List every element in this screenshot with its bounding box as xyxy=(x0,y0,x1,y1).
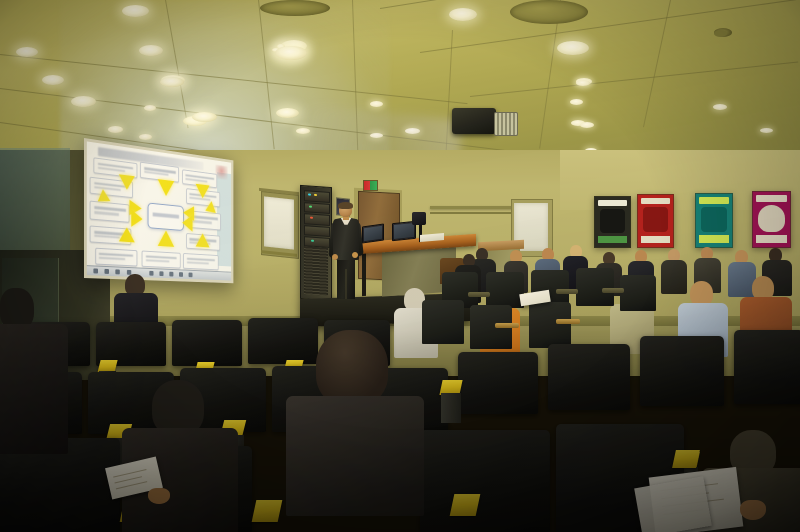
slide-node xyxy=(183,253,218,270)
slide-node xyxy=(142,250,181,268)
armrest xyxy=(602,288,624,293)
ceiling-downlight xyxy=(122,5,149,17)
ceiling-downlight xyxy=(760,128,773,133)
laptop[interactable] xyxy=(362,223,384,243)
ceiling-downlight xyxy=(275,46,307,60)
chair[interactable] xyxy=(486,272,524,308)
ceiling-downlight xyxy=(276,108,299,118)
ceiling-downlight xyxy=(713,104,727,110)
monitor[interactable] xyxy=(412,212,426,225)
presentation-room-photo xyxy=(0,0,800,532)
hand xyxy=(740,500,766,520)
ceiling-downlight xyxy=(16,47,38,57)
ceiling-downlight xyxy=(71,96,96,107)
ceiling-downlight xyxy=(42,75,64,85)
poster-gramophone xyxy=(637,194,674,248)
armrest xyxy=(468,292,490,297)
ceiling-downlight xyxy=(370,101,383,107)
ceiling-downlight xyxy=(557,41,589,55)
wall-rail xyxy=(430,206,520,209)
armrest-post xyxy=(441,393,461,423)
armrest xyxy=(556,289,578,294)
slide-arrow xyxy=(158,230,174,247)
projector-vent-grille xyxy=(494,112,518,136)
slide-arrow xyxy=(119,175,135,191)
ceiling-downlight xyxy=(139,45,163,56)
exit-sign-icon xyxy=(363,180,378,191)
ceiling-vent xyxy=(260,0,330,16)
ceiling-downlight xyxy=(144,105,156,111)
chair[interactable] xyxy=(172,320,242,366)
slide-arrow xyxy=(196,184,210,199)
chair[interactable] xyxy=(458,352,538,414)
ceiling-downlight xyxy=(570,99,583,105)
presenter xyxy=(330,203,362,301)
slide-logo xyxy=(216,165,228,180)
projected-slide xyxy=(87,141,231,280)
slide-node xyxy=(95,248,137,267)
ceiling-vent xyxy=(510,0,588,24)
chair[interactable] xyxy=(576,268,614,306)
wall-rail xyxy=(430,212,520,214)
armrest xyxy=(556,319,580,324)
chair[interactable] xyxy=(420,430,550,532)
slide-arrow xyxy=(196,233,210,248)
lectern-leg xyxy=(362,250,366,296)
poster-computer xyxy=(695,193,733,248)
ceiling-downlight xyxy=(108,126,123,133)
ceiling-downlight xyxy=(580,122,594,128)
poster-telephone xyxy=(594,196,631,248)
chair[interactable] xyxy=(734,330,800,404)
whiteboard[interactable] xyxy=(264,196,294,249)
slide-arrow xyxy=(131,210,142,228)
seat-number-plate xyxy=(672,450,700,468)
ceiling-downlight xyxy=(192,112,217,122)
slide-arrow xyxy=(119,227,135,243)
seat-number-plate xyxy=(450,494,481,516)
hand xyxy=(148,488,170,504)
chair[interactable] xyxy=(422,300,464,344)
seat-number-plate xyxy=(252,500,283,522)
ceiling-downlight xyxy=(139,134,152,140)
projection-screen[interactable] xyxy=(84,138,233,283)
smoke-detector-icon xyxy=(714,30,727,37)
projection-screen-surface xyxy=(87,141,231,280)
chair[interactable] xyxy=(248,318,318,364)
chair[interactable] xyxy=(529,302,571,348)
ceiling-downlight xyxy=(576,80,590,86)
poster-robot xyxy=(752,191,791,248)
armrest xyxy=(495,323,519,328)
slide-arrow xyxy=(182,215,192,232)
slide-arrow xyxy=(158,180,174,198)
slide-node xyxy=(90,201,130,224)
ceiling-projector xyxy=(452,108,496,134)
av-equipment-rack[interactable] xyxy=(300,185,332,301)
ceiling-downlight xyxy=(160,77,184,87)
chair[interactable] xyxy=(640,336,724,406)
chair[interactable] xyxy=(548,344,630,410)
slide-center-node xyxy=(148,202,184,231)
ceiling-downlight xyxy=(449,8,477,21)
chair[interactable] xyxy=(620,275,656,311)
